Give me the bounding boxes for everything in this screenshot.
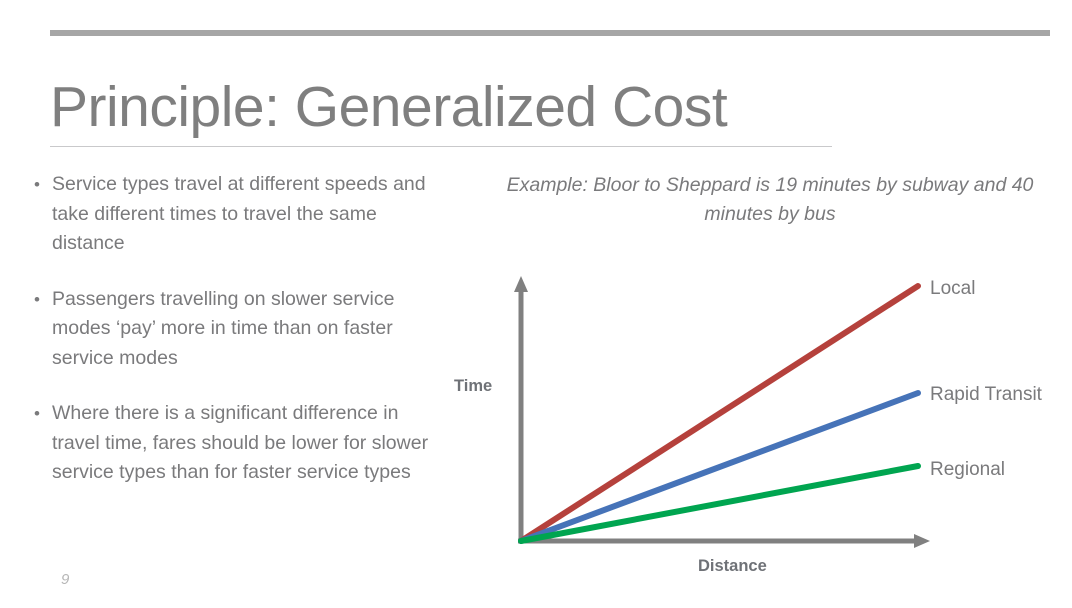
slide-number: 9 (61, 571, 69, 588)
list-item: • Where there is a significant differenc… (30, 399, 440, 488)
list-item: • Passengers travelling on slower servic… (30, 285, 440, 374)
list-item: • Service types travel at different spee… (30, 170, 440, 259)
page-title: Principle: Generalized Cost (50, 71, 950, 143)
x-axis (518, 534, 930, 548)
title-divider (50, 146, 832, 147)
list-item-text: Passengers travelling on slower service … (52, 288, 395, 369)
legend-label-regional: Regional (930, 459, 1005, 481)
bullet-list: • Service types travel at different spee… (30, 170, 440, 488)
list-item-text: Service types travel at different speeds… (52, 173, 426, 254)
legend-label-local: Local (930, 278, 975, 300)
bullet-marker-icon: • (34, 285, 40, 315)
y-axis-label: Time (454, 377, 492, 396)
chart-panel: Example: Bloor to Sheppard is 19 minutes… (440, 165, 1072, 608)
legend-label-rapid-transit: Rapid Transit (930, 384, 1042, 406)
list-item-text: Where there is a significant difference … (52, 402, 428, 483)
y-axis (514, 276, 528, 541)
slide-accent-bar (50, 30, 1050, 36)
bullet-marker-icon: • (34, 170, 40, 200)
bullet-marker-icon: • (34, 399, 40, 429)
x-axis-label: Distance (698, 557, 767, 576)
